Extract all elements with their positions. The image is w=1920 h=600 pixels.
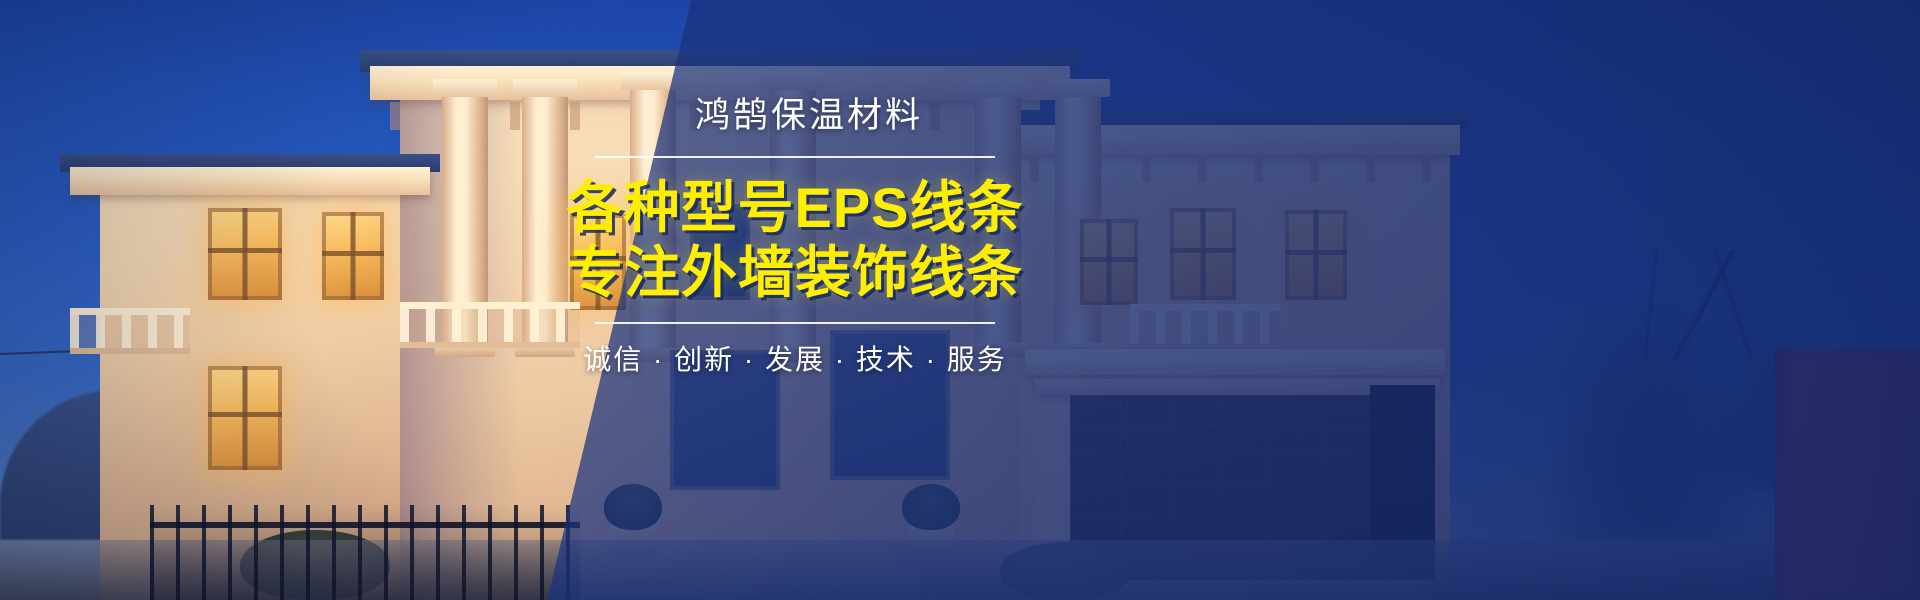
divider-bottom — [595, 322, 995, 324]
headline-line-2: 专注外墙装饰线条 — [560, 241, 1030, 306]
brand-name: 鸿鹄保温材料 — [560, 96, 1030, 136]
banner-text-block: 鸿鹄保温材料 各种型号EPS线条 专注外墙装饰线条 诚信 · 创新 · 发展 ·… — [560, 96, 1030, 379]
headline-group: 各种型号EPS线条 专注外墙装饰线条 — [560, 172, 1030, 306]
divider-top — [595, 156, 995, 158]
headline-line-1: 各种型号EPS线条 — [560, 176, 1030, 241]
tagline: 诚信 · 创新 · 发展 · 技术 · 服务 — [560, 342, 1030, 378]
promotional-banner: 鸿鹄保温材料 各种型号EPS线条 专注外墙装饰线条 诚信 · 创新 · 发展 ·… — [0, 0, 1920, 600]
